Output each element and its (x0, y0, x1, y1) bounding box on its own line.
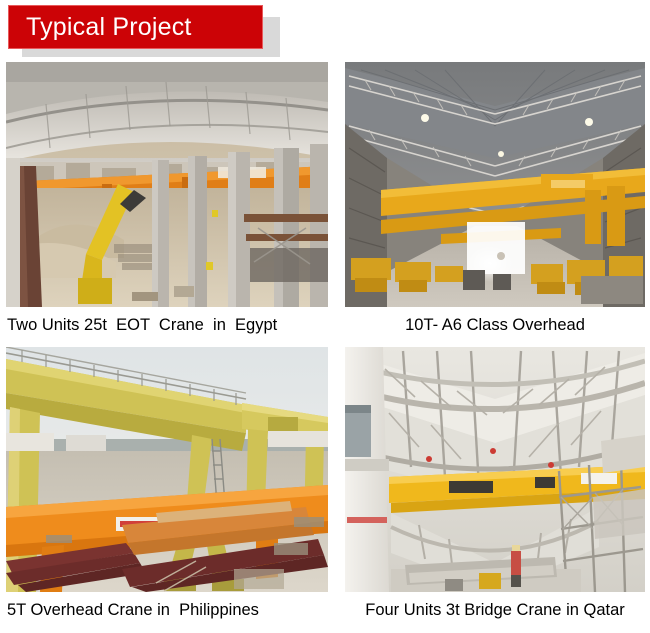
photo-10t-a6-overhead[interactable] (345, 62, 645, 307)
typical-project-page: Typical Project (0, 0, 650, 633)
caption-10t-a6-overhead: 10T- A6 Class Overhead (345, 307, 645, 336)
photo-egypt-illustration (6, 62, 328, 307)
photo-qatar-3t-bridge-crane[interactable] (345, 347, 645, 592)
gallery-item-philippines-5t-overhead[interactable]: 5T Overhead Crane in Philippines (6, 347, 328, 621)
photo-philippines-5t-overhead[interactable] (6, 347, 328, 592)
header-banner: Typical Project (8, 5, 280, 57)
project-gallery: Two Units 25t EOT Crane in Egypt (0, 62, 650, 632)
gallery-item-qatar-3t-bridge-crane[interactable]: Four Units 3t Bridge Crane in Qatar (345, 347, 645, 621)
gallery-item-10t-a6-overhead[interactable]: 10T- A6 Class Overhead (345, 62, 645, 336)
gallery-row-2: 5T Overhead Crane in Philippines (0, 347, 650, 632)
photo-10t-illustration (345, 62, 645, 307)
caption-philippines-5t-overhead: 5T Overhead Crane in Philippines (6, 592, 328, 621)
photo-qatar-illustration (345, 347, 645, 592)
caption-qatar-3t-bridge-crane: Four Units 3t Bridge Crane in Qatar (345, 592, 645, 621)
gallery-row-1: Two Units 25t EOT Crane in Egypt (0, 62, 650, 347)
photo-egypt-eot-crane[interactable] (6, 62, 328, 307)
page-title: Typical Project (9, 15, 192, 40)
banner-plate: Typical Project (8, 5, 263, 49)
caption-egypt-eot-crane: Two Units 25t EOT Crane in Egypt (6, 307, 328, 336)
gallery-item-egypt-eot-crane[interactable]: Two Units 25t EOT Crane in Egypt (6, 62, 328, 336)
photo-philippines-illustration (6, 347, 328, 592)
